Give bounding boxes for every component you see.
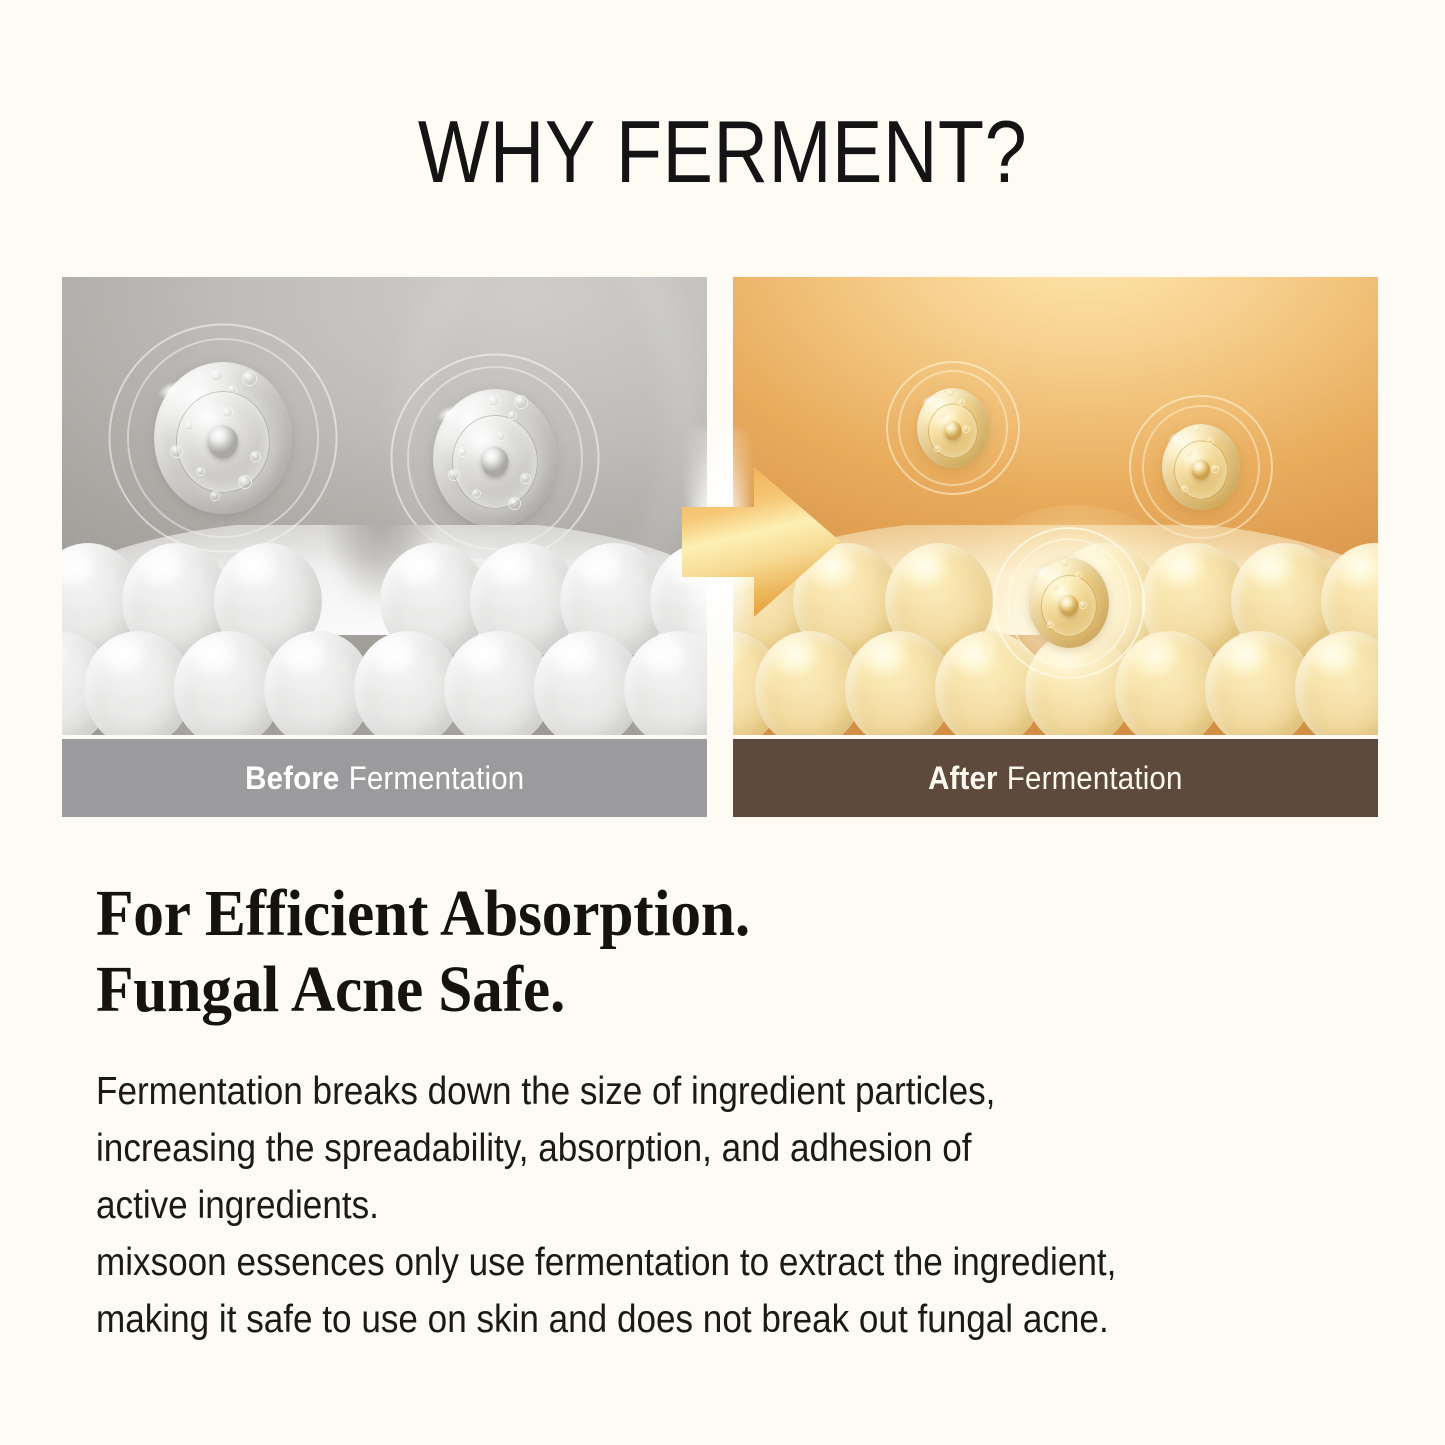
micro-bubble: [488, 395, 500, 407]
after-caption-inner: After Fermentation: [928, 760, 1182, 797]
body-line-4: mixsoon essences only use fermentation t…: [96, 1234, 1257, 1291]
micro-bubble: [210, 491, 220, 501]
micro-bubble: [938, 411, 946, 419]
micro-bubble: [934, 445, 941, 452]
headline: For Efficient Absorption. Fungal Acne Sa…: [96, 876, 1296, 1028]
micro-bubble: [448, 469, 460, 481]
micro-bubble: [1061, 559, 1070, 568]
micro-bubble: [1181, 485, 1188, 492]
pearl-row-lower: [62, 631, 707, 735]
fermented-droplet: [888, 363, 1018, 493]
micro-bubble: [1211, 465, 1219, 473]
body-line-5: making it safe to use on skin and does n…: [96, 1291, 1257, 1348]
micro-bubble: [962, 425, 970, 433]
before-cell-layer: [62, 525, 707, 735]
headline-line-2: Fungal Acne Safe.: [96, 952, 1212, 1028]
droplet-bead: [208, 426, 238, 459]
before-caption-strong: Before: [245, 760, 339, 797]
arrow-right-icon: [668, 459, 848, 624]
micro-bubble: [228, 385, 237, 394]
micro-bubble: [170, 445, 183, 458]
micro-bubble: [1047, 621, 1054, 628]
micro-bubble: [520, 473, 531, 484]
page-root: WHY FERMENT?: [0, 0, 1445, 1445]
micro-bubble: [496, 431, 506, 441]
micro-bubble: [514, 395, 528, 409]
micro-bubble: [946, 389, 955, 398]
after-caption-strong: After: [928, 760, 998, 797]
body-line-3: active ingredients.: [96, 1177, 1257, 1234]
micro-bubble: [1051, 583, 1059, 591]
micro-bubble: [242, 371, 257, 386]
fermented-droplet: [1131, 397, 1271, 537]
before-caption-bar: Before Fermentation: [62, 739, 707, 817]
micro-bubble: [250, 451, 261, 462]
micro-bubble: [1075, 571, 1082, 578]
micro-bubble: [1207, 437, 1214, 444]
skin-cell: [1295, 631, 1378, 735]
droplet-bead: [945, 421, 962, 440]
micro-bubble: [472, 489, 481, 498]
page-title: WHY FERMENT?: [101, 104, 1344, 200]
body-copy: Fermentation breaks down the size of ing…: [96, 1063, 1386, 1348]
micro-bubble: [210, 369, 223, 382]
before-after-comparison: Before Fermentation: [62, 277, 1378, 817]
micro-bubble: [508, 497, 521, 510]
before-panel: Before Fermentation: [62, 277, 707, 817]
micro-bubble: [508, 411, 517, 420]
before-illustration: [62, 277, 707, 735]
headline-line-1: For Efficient Absorption.: [96, 876, 1212, 952]
micro-bubble: [1079, 601, 1087, 609]
droplet-bead: [1192, 460, 1210, 480]
body-line-2: increasing the spreadability, absorption…: [96, 1120, 1257, 1177]
droplet-bead: [481, 447, 508, 477]
transition-arrow: [668, 459, 848, 624]
micro-bubble: [238, 475, 252, 489]
body-line-1: Fermentation breaks down the size of ing…: [96, 1063, 1257, 1120]
micro-bubble: [1185, 449, 1193, 457]
droplet-bead: [1060, 595, 1079, 616]
serum-droplet: [110, 325, 335, 550]
after-caption-light: Fermentation: [1007, 760, 1183, 797]
penetrating-droplet: [995, 529, 1143, 677]
before-caption-inner: Before Fermentation: [245, 760, 524, 797]
before-caption-light: Fermentation: [348, 760, 524, 797]
micro-bubble: [958, 399, 965, 406]
micro-bubble: [458, 447, 468, 457]
micro-bubble: [1193, 425, 1202, 434]
micro-bubble: [184, 421, 194, 431]
micro-bubble: [222, 407, 233, 418]
after-caption-bar: After Fermentation: [733, 739, 1378, 817]
micro-bubble: [196, 467, 205, 476]
